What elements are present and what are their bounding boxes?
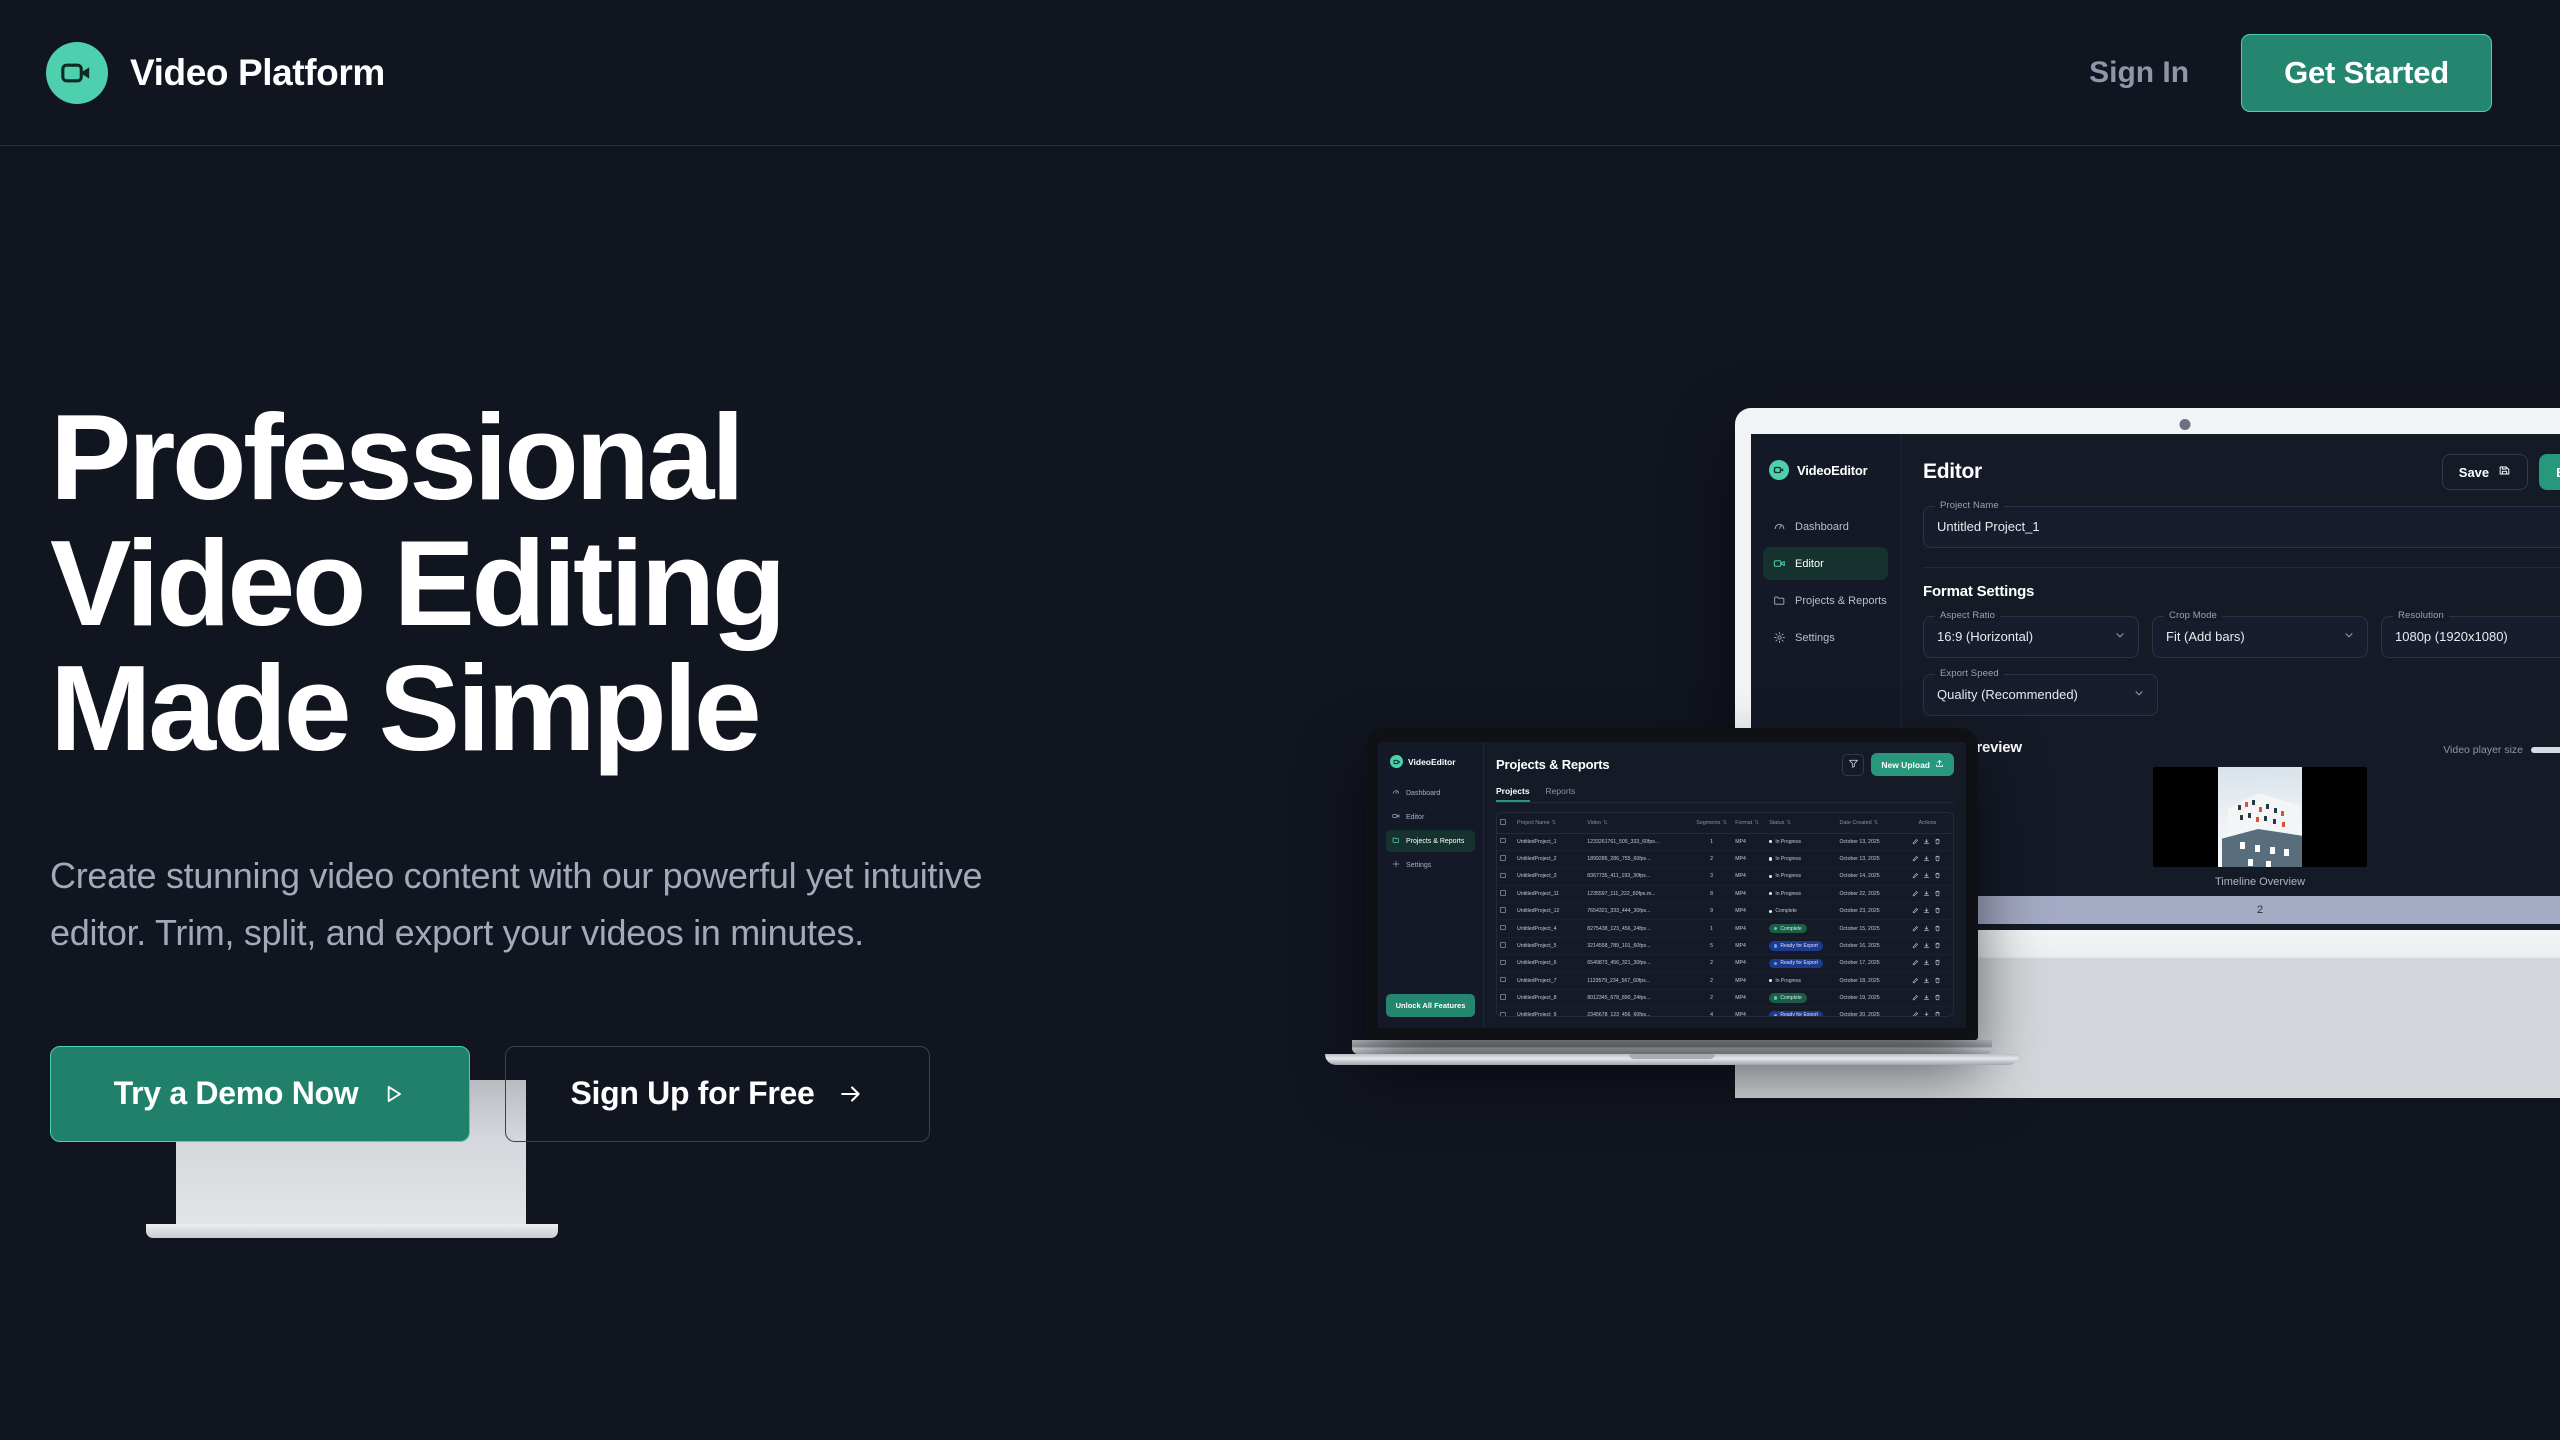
cell-video: 2345678_123_456_60fps... [1584, 1007, 1691, 1017]
trash-icon[interactable] [1933, 924, 1942, 933]
cell-actions [1902, 868, 1953, 885]
row-checkbox-cell[interactable] [1497, 833, 1514, 850]
table-row[interactable]: UntitledProject_21899286_286_755_60fps..… [1497, 850, 1953, 867]
row-checkbox-cell[interactable] [1497, 903, 1514, 920]
cell-status: In Progress [1766, 833, 1836, 850]
projects-sidebar: VideoEditor Dashboard [1378, 742, 1484, 1028]
laptop-notch [1635, 728, 1709, 739]
row-checkbox-cell[interactable] [1497, 850, 1514, 867]
brand-name: Video Platform [130, 52, 385, 94]
column-select-all[interactable] [1497, 813, 1514, 833]
unlock-all-features-button[interactable]: Unlock All Features [1386, 994, 1475, 1017]
row-checkbox-cell[interactable] [1497, 955, 1514, 972]
projects-page-title: Projects & Reports [1496, 757, 1609, 772]
edit-icon[interactable] [1911, 1010, 1920, 1017]
sidebar-item-label: Settings [1795, 632, 1835, 644]
player-caption: Timeline Overview [1923, 876, 2560, 888]
cell-status: In Progress [1766, 850, 1836, 867]
cell-status: Complete [1766, 920, 1836, 937]
slider-track[interactable] [2531, 747, 2560, 753]
cell-video: 1899286_286_755_60fps... [1584, 850, 1691, 867]
cell-video: 1133579_234_567_60fps... [1584, 972, 1691, 989]
cell-status: Ready for Export [1766, 937, 1836, 954]
row-checkbox-cell[interactable] [1497, 972, 1514, 989]
table-header-row: Project Name⇅ Video⇅ Segments⇅ Format⇅ S… [1497, 813, 1953, 833]
status-dot-icon [1774, 1014, 1777, 1017]
col-label: Date Created [1840, 820, 1872, 826]
checkbox-icon[interactable] [1500, 873, 1506, 879]
table-row[interactable]: UntitledProject_38367735_411_193_30fps..… [1497, 868, 1953, 885]
video-camera-icon [1390, 755, 1403, 768]
trash-icon[interactable] [1933, 906, 1942, 915]
sidebar-item-projects-reports[interactable]: Projects & Reports [1763, 584, 1888, 617]
try-demo-label: Try a Demo Now [114, 1075, 359, 1112]
status-badge: In Progress [1769, 976, 1806, 985]
cell-format: MP4 [1732, 868, 1766, 885]
edit-icon[interactable] [1911, 837, 1920, 846]
cell-format: MP4 [1732, 989, 1766, 1006]
hero-cta-group: Try a Demo Now Sign Up for Free [50, 1046, 1130, 1142]
cell-project-name: UntitledProject_3 [1514, 868, 1584, 885]
cell-segments: 2 [1691, 972, 1732, 989]
status-badge: Ready for Export [1769, 1011, 1823, 1017]
folder-icon [1392, 836, 1400, 846]
checkbox-icon[interactable] [1500, 855, 1506, 861]
edit-icon[interactable] [1911, 958, 1920, 967]
cell-status: Ready for Export [1766, 955, 1836, 972]
cell-actions [1902, 850, 1953, 867]
video-player-preview[interactable] [2153, 767, 2367, 867]
crop-mode-value: Fit (Add bars) [2166, 629, 2245, 644]
checkbox-icon[interactable] [1500, 977, 1506, 983]
trash-icon[interactable] [1933, 941, 1942, 950]
download-icon[interactable] [1922, 941, 1931, 950]
projects-top-actions: New Upload [1842, 753, 1954, 776]
status-dot-icon [1769, 892, 1772, 895]
sidebar-item-label: Dashboard [1406, 790, 1440, 797]
download-icon[interactable] [1922, 1010, 1931, 1017]
cell-project-name: UntitledProject_11 [1514, 885, 1584, 902]
status-label: Ready for Export [1780, 1012, 1818, 1017]
cell-project-name: UntitledProject_6 [1514, 955, 1584, 972]
projects-brand-name: VideoEditor [1408, 757, 1456, 767]
project-name-field[interactable]: Project Name Untitled Project_1 [1923, 506, 2560, 548]
column-actions: Actions [1902, 813, 1953, 833]
status-badge: Ready for Export [1769, 941, 1823, 950]
trash-icon[interactable] [1933, 993, 1942, 1002]
floppy-disk-icon [2498, 464, 2511, 480]
sidebar-item-label: Dashboard [1795, 521, 1849, 533]
status-badge: Complete [1769, 993, 1807, 1002]
cell-video: 6549873_456_321_30fps... [1584, 955, 1691, 972]
format-row-1: Aspect Ratio 16:9 (Horizontal) Crop Mode… [1923, 600, 2560, 658]
projects-main: Projects & Reports New Upload [1484, 742, 1966, 1028]
laptop-trackpad-notch [1629, 1054, 1715, 1059]
crop-mode-legend: Crop Mode [2164, 610, 2222, 621]
sidebar-item-editor[interactable]: Editor [1386, 806, 1475, 828]
table-row[interactable]: UntitledProject_92345678_123_456_60fps..… [1497, 1007, 1953, 1017]
status-label: In Progress [1775, 856, 1801, 862]
speedometer-icon [1773, 520, 1786, 533]
upload-icon [1935, 759, 1944, 770]
status-badge: In Progress [1769, 854, 1806, 863]
sidebar-item-dashboard[interactable]: Dashboard [1386, 782, 1475, 804]
gear-icon [1773, 631, 1786, 644]
edit-icon[interactable] [1911, 906, 1920, 915]
cell-format: MP4 [1732, 972, 1766, 989]
export-speed-value: Quality (Recommended) [1937, 687, 2078, 702]
cell-date-created: October 19, 2025 [1837, 989, 1902, 1006]
status-badge: In Progress [1769, 889, 1806, 898]
brand-logo[interactable]: Video Platform [46, 42, 385, 104]
projects-table-wrapper[interactable]: Project Name⇅ Video⇅ Segments⇅ Format⇅ S… [1496, 812, 1954, 1017]
status-dot-icon [1774, 927, 1777, 930]
cell-actions [1902, 989, 1953, 1006]
sort-icon: ⇅ [1754, 820, 1759, 826]
row-checkbox-cell[interactable] [1497, 1007, 1514, 1017]
aspect-ratio-value: 16:9 (Horizontal) [1937, 629, 2033, 644]
cell-actions [1902, 903, 1953, 920]
col-label: Segments [1696, 820, 1720, 826]
cell-segments: 2 [1691, 850, 1732, 867]
cell-video: 1235597_111_222_60fps.m... [1584, 885, 1691, 902]
video-camera-icon [1769, 460, 1789, 480]
edit-icon[interactable] [1911, 976, 1920, 985]
cell-segments: 2 [1691, 989, 1732, 1006]
status-dot-icon [1769, 979, 1772, 982]
checkbox-icon[interactable] [1500, 960, 1506, 966]
checkbox-icon[interactable] [1500, 994, 1506, 1000]
cell-status: In Progress [1766, 868, 1836, 885]
checkbox-icon[interactable] [1500, 890, 1506, 896]
export-speed-legend: Export Speed [1935, 668, 2004, 679]
play-triangle-icon [380, 1081, 406, 1107]
table-row[interactable]: UntitledProject_111235597_111_222_60fps.… [1497, 885, 1953, 902]
status-label: In Progress [1775, 891, 1801, 897]
cell-format: MP4 [1732, 937, 1766, 954]
sort-icon: ⇅ [1786, 820, 1791, 826]
cell-date-created: October 14, 2025 [1837, 868, 1902, 885]
sidebar-item-dashboard[interactable]: Dashboard [1763, 510, 1888, 543]
page-title: Professional Video Editing Made Simple [50, 395, 1130, 772]
checkbox-icon[interactable] [1500, 819, 1506, 825]
status-label: In Progress [1775, 978, 1801, 984]
checkbox-icon[interactable] [1500, 1012, 1506, 1017]
export-speed-select[interactable]: Export Speed Quality (Recommended) [1923, 674, 2158, 716]
cell-project-name: UntitledProject_8 [1514, 989, 1584, 1006]
player-size-slider[interactable]: Video player size [2443, 744, 2560, 756]
get-started-button[interactable]: Get Started [2241, 34, 2492, 112]
editor-main: Editor Save Exp [1901, 434, 2560, 930]
trash-icon[interactable] [1933, 958, 1942, 967]
column-video[interactable]: Video⇅ [1584, 813, 1691, 833]
cell-actions [1902, 885, 1953, 902]
col-label: Project Name [1517, 820, 1550, 826]
cell-project-name: UntitledProject_7 [1514, 972, 1584, 989]
cell-status: In Progress [1766, 885, 1836, 902]
monitor-foot [146, 1224, 558, 1238]
edit-icon[interactable] [1911, 871, 1920, 880]
sidebar-item-settings[interactable]: Settings [1763, 621, 1888, 654]
cell-video: 1233261761_505_333_60fps... [1584, 833, 1691, 850]
cell-actions [1902, 972, 1953, 989]
video-camera-icon [46, 42, 108, 104]
sidebar-item-label: Projects & Reports [1406, 838, 1464, 845]
gear-icon [1392, 860, 1400, 870]
cell-format: MP4 [1732, 885, 1766, 902]
cell-status: In Progress [1766, 972, 1836, 989]
export-button[interactable]: Exp [2539, 454, 2560, 490]
trash-icon[interactable] [1933, 837, 1942, 846]
sort-icon: ⇅ [1874, 820, 1879, 826]
download-icon[interactable] [1922, 906, 1931, 915]
download-icon[interactable] [1922, 976, 1931, 985]
cell-date-created: October 23, 2025 [1837, 903, 1902, 920]
cell-video: 8275438_123_456_24fps... [1584, 920, 1691, 937]
status-dot-icon [1769, 875, 1772, 878]
speedometer-icon [1392, 788, 1400, 798]
edit-icon[interactable] [1911, 854, 1920, 863]
cell-segments: 2 [1691, 955, 1732, 972]
cell-date-created: October 15, 2025 [1837, 920, 1902, 937]
cell-video: 8012345_678_890_24fps... [1584, 989, 1691, 1006]
table-body: UntitledProject_11233261761_505_333_60fp… [1497, 833, 1953, 1017]
edit-icon[interactable] [1911, 924, 1920, 933]
edit-icon[interactable] [1911, 941, 1920, 950]
cell-format: MP4 [1732, 955, 1766, 972]
tab-projects[interactable]: Projects [1496, 786, 1530, 802]
table-head: Project Name⇅ Video⇅ Segments⇅ Format⇅ S… [1497, 813, 1953, 833]
status-label: In Progress [1775, 839, 1801, 845]
status-dot-icon [1774, 996, 1777, 999]
try-demo-button[interactable]: Try a Demo Now [50, 1046, 470, 1142]
laptop-base [1352, 1040, 1992, 1054]
cell-segments: 1 [1691, 833, 1732, 850]
status-badge: In Progress [1769, 872, 1806, 881]
download-icon[interactable] [1922, 854, 1931, 863]
download-icon[interactable] [1922, 993, 1931, 1002]
header-actions: Sign In Get Started [2089, 34, 2492, 112]
cell-actions [1902, 937, 1953, 954]
monitor-camera-icon [2180, 419, 2191, 430]
column-segments[interactable]: Segments⇅ [1691, 813, 1732, 833]
cell-project-name: UntitledProject_5 [1514, 937, 1584, 954]
cell-actions [1902, 833, 1953, 850]
cell-segments: 9 [1691, 903, 1732, 920]
cell-actions [1902, 1007, 1953, 1017]
column-date-created[interactable]: Date Created⇅ [1837, 813, 1902, 833]
status-label: In Progress [1775, 873, 1801, 879]
site-header: Video Platform Sign In Get Started [0, 0, 2560, 146]
status-dot-icon [1769, 840, 1772, 843]
tab-reports[interactable]: Reports [1546, 786, 1576, 802]
column-status[interactable]: Status⇅ [1766, 813, 1836, 833]
table-row[interactable]: UntitledProject_71133579_234_567_60fps..… [1497, 972, 1953, 989]
projects-brand: VideoEditor [1390, 755, 1475, 768]
sign-in-link[interactable]: Sign In [2089, 56, 2189, 90]
cell-segments: 4 [1691, 1007, 1732, 1017]
sidebar-item-projects-reports[interactable]: Projects & Reports [1386, 830, 1475, 852]
cell-format: MP4 [1732, 903, 1766, 920]
aspect-ratio-select[interactable]: Aspect Ratio 16:9 (Horizontal) [1923, 616, 2139, 658]
projects-nav: Dashboard Editor Projects [1386, 782, 1475, 876]
laptop-foot [1325, 1054, 2019, 1065]
status-label: Complete [1775, 908, 1796, 914]
cell-date-created: October 13, 2025 [1837, 850, 1902, 867]
row-checkbox-cell[interactable] [1497, 937, 1514, 954]
cell-segments: 8 [1691, 885, 1732, 902]
video-preview-header: Video Preview Video player size [1923, 739, 2560, 756]
sidebar-item-label: Settings [1406, 862, 1431, 869]
download-icon[interactable] [1922, 924, 1931, 933]
status-dot-icon [1774, 944, 1777, 947]
editor-brand-name: VideoEditor [1797, 463, 1868, 478]
cell-video: 3214558_789_101_60fps... [1584, 937, 1691, 954]
row-checkbox-cell[interactable] [1497, 885, 1514, 902]
new-upload-label: New Upload [1881, 760, 1930, 770]
format-row-2: Export Speed Quality (Recommended) [1923, 658, 2560, 716]
status-label: Complete [1780, 995, 1801, 1001]
cell-video: 8367735_411_193_30fps... [1584, 868, 1691, 885]
chevron-down-icon [2114, 628, 2126, 646]
sort-icon: ⇅ [1552, 820, 1557, 826]
timeline-overview-bar[interactable]: 2 [1901, 896, 2560, 924]
status-label: Complete [1780, 926, 1801, 932]
cell-project-name: UntitledProject_1 [1514, 833, 1584, 850]
table-row[interactable]: UntitledProject_66549873_456_321_30fps..… [1497, 955, 1953, 972]
checkbox-icon[interactable] [1500, 942, 1506, 948]
editor-brand: VideoEditor [1769, 460, 1888, 480]
cell-format: MP4 [1732, 850, 1766, 867]
editor-top-actions: Save Exp [2442, 454, 2560, 490]
cell-status: Ready for Export [1766, 1007, 1836, 1017]
new-upload-button[interactable]: New Upload [1871, 753, 1954, 776]
table-row[interactable]: UntitledProject_48275438_123_456_24fps..… [1497, 920, 1953, 937]
status-badge: In Progress [1769, 837, 1806, 846]
save-button[interactable]: Save [2442, 454, 2528, 490]
cell-date-created: October 13, 2025 [1837, 833, 1902, 850]
export-label: Exp [2556, 465, 2560, 480]
resolution-value: 1080p (1920x1080) [2395, 629, 2508, 644]
column-project-name[interactable]: Project Name⇅ [1514, 813, 1584, 833]
cell-format: MP4 [1732, 833, 1766, 850]
checkbox-icon[interactable] [1500, 838, 1506, 844]
sidebar-item-editor[interactable]: Editor [1763, 547, 1888, 580]
col-label: Video [1587, 820, 1601, 826]
cell-video: 7654321_333_444_30fps... [1584, 903, 1691, 920]
format-settings-title: Format Settings [1923, 583, 2560, 600]
edit-icon[interactable] [1911, 993, 1920, 1002]
row-checkbox-cell[interactable] [1497, 989, 1514, 1006]
cell-format: MP4 [1732, 920, 1766, 937]
sign-up-free-button[interactable]: Sign Up for Free [505, 1046, 930, 1142]
cell-segments: 5 [1691, 937, 1732, 954]
sidebar-item-settings[interactable]: Settings [1386, 854, 1475, 876]
projects-topbar: Projects & Reports New Upload [1496, 753, 1954, 776]
cell-project-name: UntitledProject_12 [1514, 903, 1584, 920]
status-dot-icon [1774, 962, 1777, 965]
cell-date-created: October 17, 2025 [1837, 955, 1902, 972]
download-icon[interactable] [1922, 889, 1931, 898]
resolution-select[interactable]: Resolution 1080p (1920x1080) [2381, 616, 2560, 658]
cell-actions [1902, 920, 1953, 937]
cell-segments: 3 [1691, 868, 1732, 885]
download-icon[interactable] [1922, 837, 1931, 846]
cell-segments: 1 [1691, 920, 1732, 937]
trash-icon[interactable] [1933, 854, 1942, 863]
status-badge: Complete [1769, 924, 1807, 933]
sidebar-item-label: Editor [1795, 558, 1824, 570]
table-row[interactable]: UntitledProject_53214558_789_101_60fps..… [1497, 937, 1953, 954]
sidebar-item-label: Projects & Reports [1795, 595, 1887, 607]
cell-status: Complete [1766, 989, 1836, 1006]
table-row[interactable]: UntitledProject_11233261761_505_333_60fp… [1497, 833, 1953, 850]
trash-icon[interactable] [1933, 976, 1942, 985]
crop-mode-select[interactable]: Crop Mode Fit (Add bars) [2152, 616, 2368, 658]
player-size-label: Video player size [2443, 744, 2523, 756]
status-badge: Complete [1769, 907, 1802, 916]
status-label: Ready for Export [1780, 960, 1818, 966]
cell-date-created: October 16, 2025 [1837, 937, 1902, 954]
laptop-lid: VideoEditor Dashboard [1366, 728, 1978, 1040]
laptop-mockup: VideoEditor Dashboard [1366, 728, 1978, 1065]
cell-project-name: UntitledProject_9 [1514, 1007, 1584, 1017]
cell-project-name: UntitledProject_4 [1514, 920, 1584, 937]
trash-icon[interactable] [1933, 1010, 1942, 1017]
row-checkbox-cell[interactable] [1497, 868, 1514, 885]
preview-thumbnail [2218, 767, 2302, 867]
laptop-screen: VideoEditor Dashboard [1378, 742, 1966, 1028]
status-badge: Ready for Export [1769, 959, 1823, 968]
funnel-icon [1848, 757, 1859, 772]
sort-icon: ⇅ [1603, 820, 1608, 826]
video-camera-icon [1773, 557, 1786, 570]
column-format[interactable]: Format⇅ [1732, 813, 1766, 833]
project-name-value: Untitled Project_1 [1937, 519, 2040, 534]
cell-project-name: UntitledProject_2 [1514, 850, 1584, 867]
projects-table: Project Name⇅ Video⇅ Segments⇅ Format⇅ S… [1497, 813, 1953, 1017]
trash-icon[interactable] [1933, 889, 1942, 898]
row-checkbox-cell[interactable] [1497, 920, 1514, 937]
checkbox-icon[interactable] [1500, 907, 1506, 913]
col-label: Status [1769, 820, 1784, 826]
table-row[interactable]: UntitledProject_88012345_678_890_24fps..… [1497, 989, 1953, 1006]
save-label: Save [2459, 465, 2489, 480]
sign-up-label: Sign Up for Free [570, 1075, 814, 1112]
aspect-ratio-legend: Aspect Ratio [1935, 610, 2000, 621]
edit-icon[interactable] [1911, 889, 1920, 898]
status-dot-icon [1769, 857, 1772, 860]
editor-page-title: Editor [1923, 460, 1982, 484]
col-label: Actions [1919, 820, 1937, 826]
download-icon[interactable] [1922, 958, 1931, 967]
table-row[interactable]: UntitledProject_127654321_333_444_30fps.… [1497, 903, 1953, 920]
checkbox-icon[interactable] [1500, 925, 1506, 931]
sidebar-item-label: Editor [1406, 814, 1424, 821]
download-icon[interactable] [1922, 871, 1931, 880]
filter-button[interactable] [1842, 754, 1864, 776]
trash-icon[interactable] [1933, 871, 1942, 880]
video-camera-icon [1392, 812, 1400, 822]
editor-nav: Dashboard Editor [1763, 510, 1888, 654]
cell-date-created: October 22, 2025 [1837, 885, 1902, 902]
status-dot-icon [1769, 910, 1772, 913]
hero-section: Professional Video Editing Made Simple C… [50, 395, 1130, 1142]
cell-status: Complete [1766, 903, 1836, 920]
col-label: Format [1735, 820, 1752, 826]
sort-icon: ⇅ [1723, 820, 1728, 826]
project-name-legend: Project Name [1935, 500, 2004, 511]
